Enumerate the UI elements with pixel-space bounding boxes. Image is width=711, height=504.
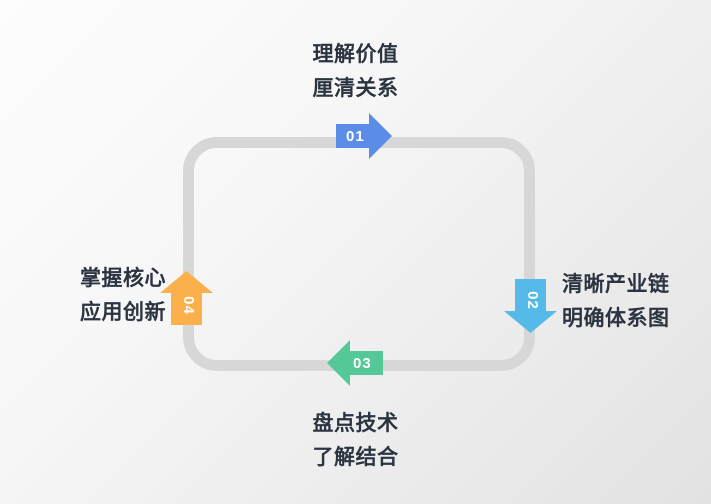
step-label-02: 清晰产业链 明确体系图 <box>562 268 670 336</box>
step-label-04-line-1: 掌握核心 <box>80 262 166 296</box>
arrow-number-01: 01 <box>346 129 365 144</box>
arrow-number-02: 02 <box>525 291 540 310</box>
arrow-up-icon-04[interactable]: 04 <box>160 271 213 325</box>
step-label-01: 理解价值 厘清关系 <box>0 38 711 106</box>
arrow-number-03: 03 <box>353 356 372 371</box>
step-label-03: 盘点技术 了解结合 <box>0 407 711 475</box>
step-label-01-line-2: 厘清关系 <box>0 72 711 106</box>
step-label-01-line-1: 理解价值 <box>0 38 711 72</box>
diagram-canvas: 理解价值 厘清关系 清晰产业链 明确体系图 盘点技术 了解结合 掌握核心 应用创… <box>0 0 711 504</box>
arrow-number-04: 04 <box>181 296 196 315</box>
step-label-04: 掌握核心 应用创新 <box>80 262 166 330</box>
step-label-02-line-2: 明确体系图 <box>562 302 670 336</box>
step-label-03-line-1: 盘点技术 <box>0 407 711 441</box>
step-label-02-line-1: 清晰产业链 <box>562 268 670 302</box>
arrow-down-icon-02[interactable]: 02 <box>504 279 557 333</box>
step-label-04-line-2: 应用创新 <box>80 296 166 330</box>
arrow-right-icon-01[interactable]: 01 <box>336 113 392 159</box>
cycle-track <box>183 137 535 371</box>
step-label-03-line-2: 了解结合 <box>0 441 711 475</box>
arrow-left-icon-03[interactable]: 03 <box>327 340 383 386</box>
